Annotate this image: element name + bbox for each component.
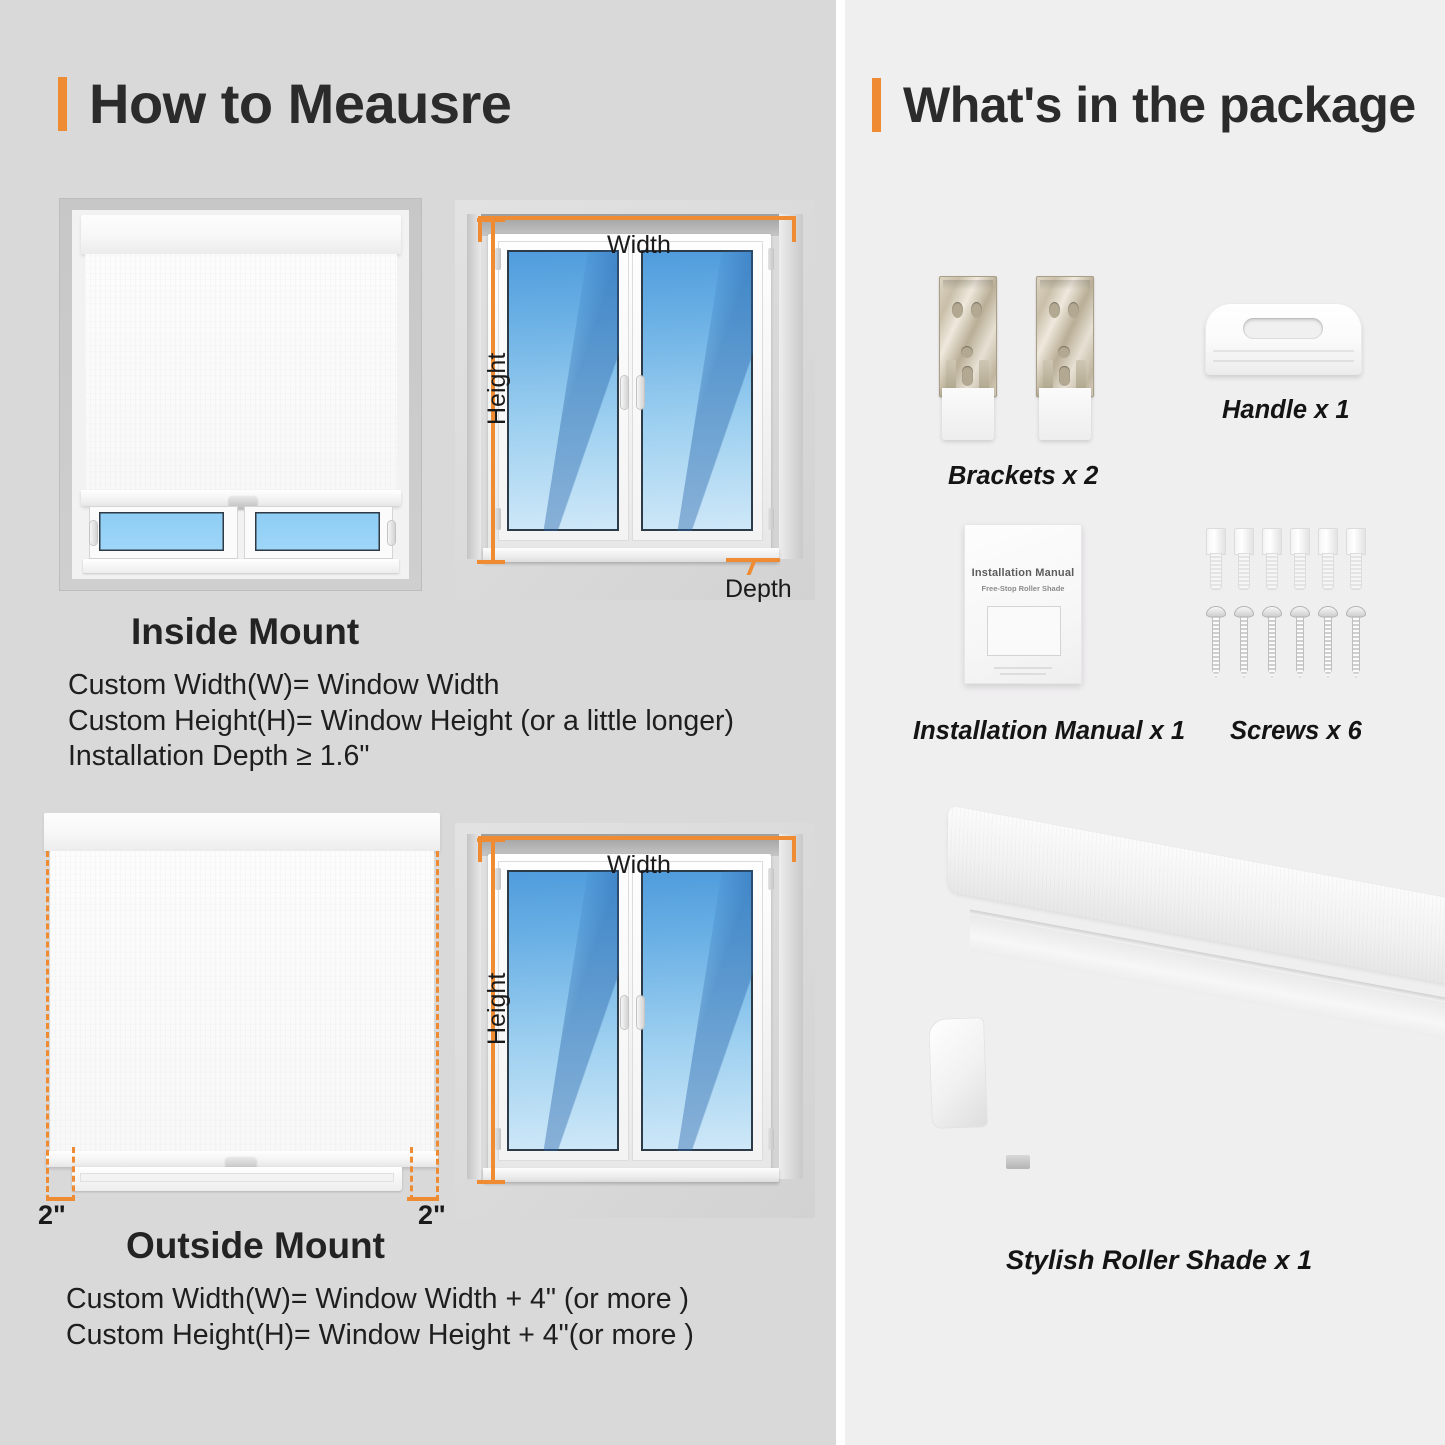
package-contents-heading: What's in the package xyxy=(872,78,1416,132)
screw-5 xyxy=(1318,606,1338,678)
width-label: Width xyxy=(607,851,671,880)
installation-manual-label: Installation Manual x 1 xyxy=(913,717,1185,746)
overhang-guide-left xyxy=(46,851,49,1201)
bracket-hole-2 xyxy=(971,302,982,318)
anchor-body xyxy=(1350,553,1363,590)
height-dimension-tick-bottom xyxy=(477,1180,505,1184)
anchor-head xyxy=(1318,528,1338,555)
window-hinge-bottom-right xyxy=(768,1128,774,1150)
inside-mount-window-diagram: Width Height Depth xyxy=(455,200,815,600)
wall-anchor-4 xyxy=(1290,528,1310,590)
inside-mount-line-1: Custom Width(W)= Window Width xyxy=(68,668,734,704)
inside-mount-title: Inside Mount xyxy=(131,611,359,653)
window-handle-left-icon xyxy=(621,996,628,1029)
anchor-body xyxy=(1266,553,1279,590)
inside-mount-shade-illustration xyxy=(59,198,422,591)
handle-grip-slot xyxy=(1243,318,1323,339)
screw-shaft xyxy=(1240,616,1249,678)
height-dimension-tick-top xyxy=(477,838,505,842)
shade-fabric xyxy=(85,254,397,490)
inside-mount-specs: Custom Width(W)= Window Width Custom Hei… xyxy=(68,668,734,775)
bracket-center-hole xyxy=(962,366,973,386)
bracket-item-2 xyxy=(1036,276,1094,440)
panel-divider xyxy=(836,0,845,1445)
window-hinge-bottom-right xyxy=(768,508,774,530)
window-sill xyxy=(83,559,399,573)
window-glass-left xyxy=(507,870,619,1151)
screw-2 xyxy=(1234,606,1254,678)
manual-footer-line-1 xyxy=(994,667,1052,669)
window-hinge-top-right xyxy=(768,868,774,890)
screws-label: Screws x 6 xyxy=(1230,717,1362,746)
anchor-head xyxy=(1346,528,1366,555)
height-dimension-tick-top xyxy=(477,218,505,222)
anchor-body xyxy=(1238,553,1251,590)
window-sill xyxy=(483,1168,779,1182)
bracket-top-ridge xyxy=(1040,280,1090,290)
anchor-head xyxy=(1290,528,1310,555)
outside-mount-specs: Custom Width(W)= Window Width + 4" (or m… xyxy=(66,1282,694,1353)
how-to-measure-heading: How to Meausre xyxy=(58,76,511,132)
screw-4 xyxy=(1290,606,1310,678)
screw-shaft xyxy=(1296,616,1305,678)
window-handle-right-icon xyxy=(388,521,395,545)
window-handle-left-icon xyxy=(621,376,628,409)
window-reveal-right xyxy=(779,834,803,1179)
outside-mount-title: Outside Mount xyxy=(126,1225,385,1267)
window-reveal-left xyxy=(467,834,481,1179)
bracket-hole-1 xyxy=(952,302,963,318)
bracket-white-base xyxy=(942,388,993,440)
window-hinge-top-left xyxy=(495,868,501,890)
screw-6 xyxy=(1346,606,1366,678)
accent-bar-icon xyxy=(872,78,881,132)
handle-seam-2 xyxy=(1213,360,1354,362)
manual-cover-diagram xyxy=(987,606,1061,656)
shade-fabric xyxy=(50,851,434,1151)
width-dimension-tick-right xyxy=(792,216,796,242)
height-label: Height xyxy=(483,353,512,425)
window-sill-inner xyxy=(80,1173,394,1182)
window-glass-left xyxy=(99,512,224,551)
window-reveal-left xyxy=(467,214,481,559)
shade-headrail xyxy=(81,215,401,254)
outside-mount-window-diagram: Width Height xyxy=(455,823,815,1218)
screw-shaft xyxy=(1212,616,1221,678)
window-edge-guide-right xyxy=(410,1147,413,1201)
window-edge-guide-left xyxy=(72,1147,75,1201)
window-hinge-bottom-left xyxy=(495,1128,501,1150)
page-title-left: How to Meausre xyxy=(89,76,511,132)
manual-cover-title: Installation Manual xyxy=(964,567,1082,579)
manual-cover-subtitle: Free-Stop Roller Shade xyxy=(964,584,1082,593)
wall-anchor-2 xyxy=(1234,528,1254,590)
bracket-center-hole xyxy=(1059,366,1070,386)
screw-1 xyxy=(1206,606,1226,678)
roller-shade-bottom-bar-tip xyxy=(1006,1155,1030,1169)
outside-mount-shade-illustration xyxy=(28,807,448,1197)
wall-anchor-3 xyxy=(1262,528,1282,590)
window-reveal-right xyxy=(779,214,803,559)
anchor-head xyxy=(1234,528,1254,555)
window-hinge-bottom-left xyxy=(495,508,501,530)
width-label: Width xyxy=(607,231,671,260)
anchor-body xyxy=(1210,553,1223,590)
width-dimension-tick-right xyxy=(792,836,796,862)
window-hinge-top-right xyxy=(768,248,774,270)
inside-mount-line-3: Installation Depth ≥ 1.6" xyxy=(68,739,734,775)
window-glass-right xyxy=(255,512,380,551)
outside-mount-line-1: Custom Width(W)= Window Width + 4" (or m… xyxy=(66,1282,694,1318)
bracket-white-base xyxy=(1039,388,1090,440)
bracket-hole-1 xyxy=(1049,302,1060,318)
bracket-top-ridge xyxy=(943,280,993,290)
inside-mount-line-2: Custom Height(H)= Window Height (or a li… xyxy=(68,704,734,740)
anchor-body xyxy=(1322,553,1335,590)
installation-manual-part: Installation Manual Free-Stop Roller Sha… xyxy=(964,524,1082,684)
brackets-label: Brackets x 2 xyxy=(948,462,1098,491)
window-hinge-top-left xyxy=(495,248,501,270)
anchor-head xyxy=(1262,528,1282,555)
window-handle-right-icon xyxy=(637,376,644,409)
anchor-body xyxy=(1294,553,1307,590)
roller-shade-label: Stylish Roller Shade x 1 xyxy=(1006,1245,1312,1276)
window-glass-right xyxy=(641,250,753,531)
handle-label: Handle x 1 xyxy=(1222,396,1350,425)
anchor-head xyxy=(1206,528,1226,555)
roller-shade-product xyxy=(910,890,1440,1190)
bracket-hole-3 xyxy=(1058,346,1070,358)
width-dimension-line xyxy=(478,216,796,220)
bracket-item-1 xyxy=(939,276,997,440)
accent-bar-icon xyxy=(58,77,67,131)
manual-footer-line-2 xyxy=(1000,673,1046,675)
screw-3 xyxy=(1262,606,1282,678)
width-dimension-line xyxy=(478,836,796,840)
height-dimension-tick-bottom xyxy=(477,560,505,564)
roller-shade-end-cap xyxy=(928,1017,988,1129)
height-label: Height xyxy=(483,973,512,1045)
manual-cover-page xyxy=(964,524,1082,684)
window-handle-right-icon xyxy=(637,996,644,1029)
overhang-guide-right xyxy=(436,851,439,1201)
wall-anchor-1 xyxy=(1206,528,1226,590)
screws-and-anchors-group xyxy=(1206,528,1376,688)
infographic-page: How to Meausre xyxy=(0,0,1445,1445)
bracket-hole-2 xyxy=(1068,302,1079,318)
depth-label: Depth xyxy=(725,575,792,604)
screw-shaft xyxy=(1324,616,1333,678)
window-glass-left xyxy=(507,250,619,531)
overhang-label-left: 2" xyxy=(38,1200,66,1231)
screw-shaft xyxy=(1268,616,1277,678)
window-glass-right xyxy=(641,870,753,1151)
screw-shaft xyxy=(1352,616,1361,678)
handle-body xyxy=(1205,303,1362,375)
wall-anchor-5 xyxy=(1318,528,1338,590)
window-handle-left-icon xyxy=(90,521,97,545)
wall-anchor-6 xyxy=(1346,528,1366,590)
page-title-right: What's in the package xyxy=(903,80,1416,130)
overhang-label-right: 2" xyxy=(418,1200,446,1231)
handle-part xyxy=(1205,303,1362,375)
bracket-hole-3 xyxy=(961,346,973,358)
outside-mount-line-2: Custom Height(H)= Window Height + 4"(or … xyxy=(66,1318,694,1354)
shade-headrail xyxy=(44,813,440,851)
handle-seam-1 xyxy=(1213,350,1354,352)
